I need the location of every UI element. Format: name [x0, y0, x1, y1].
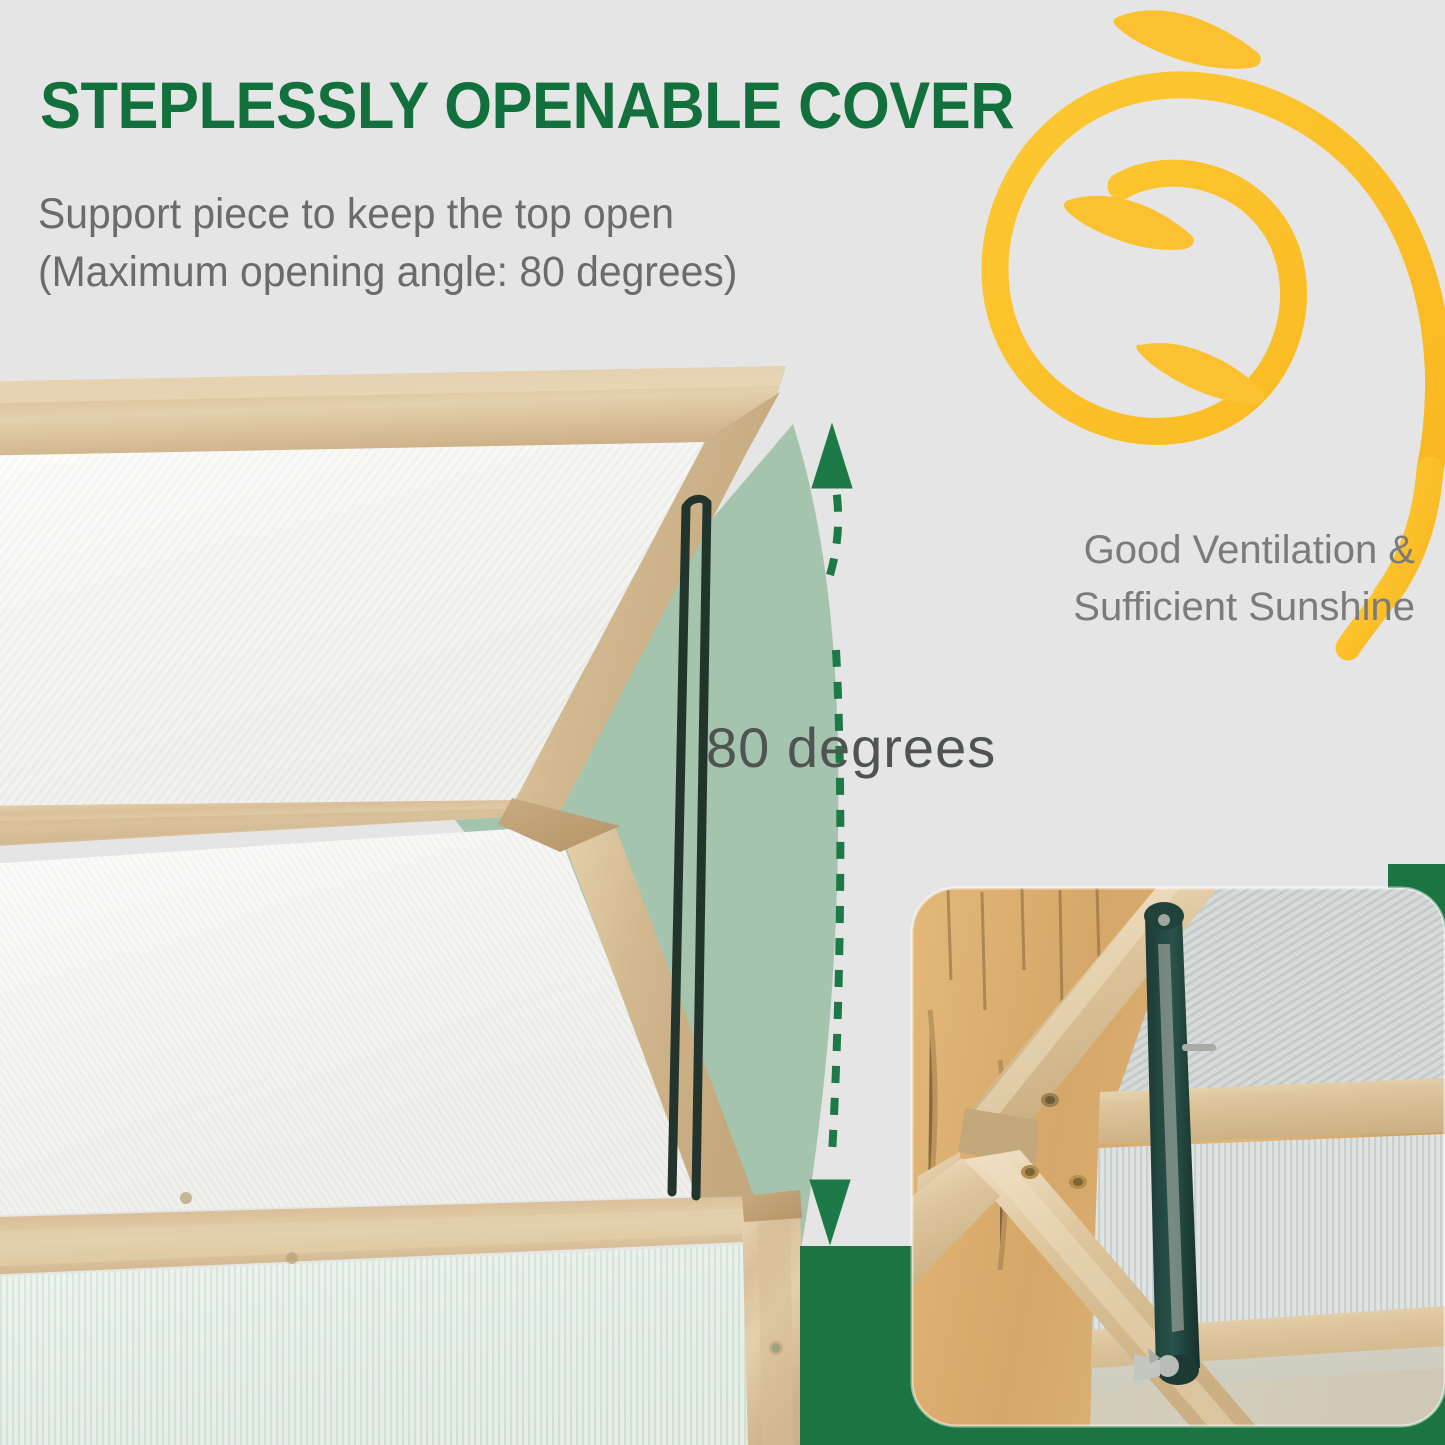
subtitle-block: Support piece to keep the top open (Maxi… — [38, 186, 737, 301]
angle-value-label: 80 degrees — [706, 715, 996, 780]
subtitle-line-2: (Maximum opening angle: 80 degrees) — [38, 244, 737, 302]
subtitle-line-1: Support piece to keep the top open — [38, 186, 737, 244]
infographic-canvas: STEPLESSLY OPENABLE COVER Support piece … — [0, 0, 1445, 1445]
page-title: STEPLESSLY OPENABLE COVER — [40, 72, 1014, 138]
ventilation-line-2: Sufficient Sunshine — [855, 579, 1415, 636]
ventilation-line-1: Good Ventilation & — [855, 522, 1415, 579]
ventilation-callout: Good Ventilation & Sufficient Sunshine — [855, 522, 1415, 636]
